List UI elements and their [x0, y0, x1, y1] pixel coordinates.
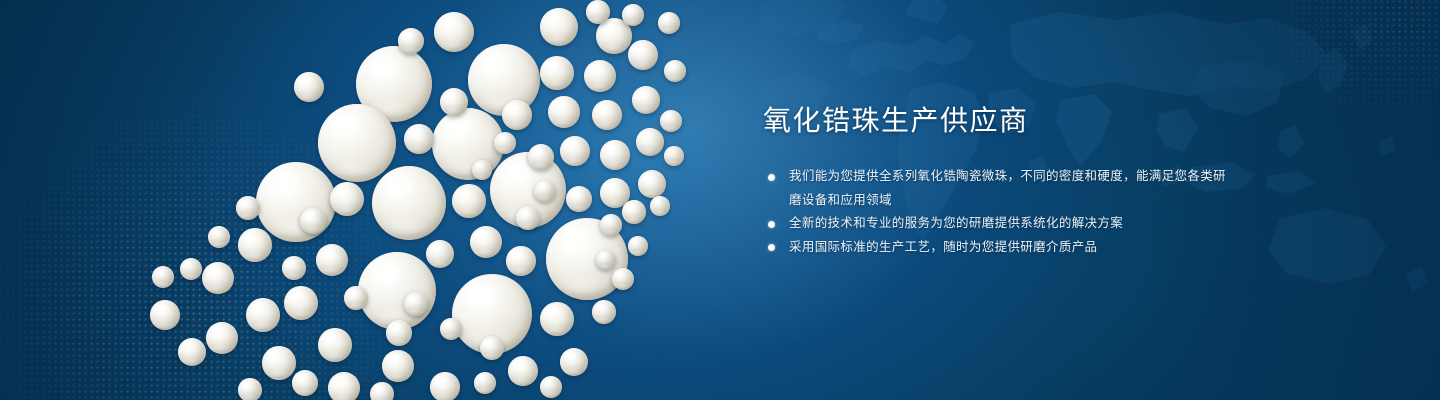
bullet-text: 全新的技术和专业的服务为您的研磨提供系统化的解决方案 — [789, 216, 1123, 230]
bullet-dot-icon — [768, 221, 775, 228]
bullet-dot-icon — [768, 174, 775, 181]
banner-headline: 氧化锆珠生产供应商 — [763, 104, 1233, 138]
banner-copy: 氧化锆珠生产供应商 我们能为您提供全系列氧化锆陶瓷微珠，不同的密度和硬度，能满足… — [763, 104, 1233, 259]
bullet-item-3: 采用国际标准的生产工艺，随时为您提供研磨介质产品 — [763, 236, 1233, 260]
bullet-text: 采用国际标准的生产工艺，随时为您提供研磨介质产品 — [789, 240, 1097, 254]
hero-banner: 氧化锆珠生产供应商 我们能为您提供全系列氧化锆陶瓷微珠，不同的密度和硬度，能满足… — [0, 0, 1440, 400]
banner-bullet-list: 我们能为您提供全系列氧化锆陶瓷微珠，不同的密度和硬度，能满足您各类研磨设备和应用… — [763, 165, 1233, 259]
bullet-dot-icon — [768, 244, 775, 251]
bullet-item-1: 我们能为您提供全系列氧化锆陶瓷微珠，不同的密度和硬度，能满足您各类研磨设备和应用… — [763, 165, 1233, 212]
bullet-text: 我们能为您提供全系列氧化锆陶瓷微珠，不同的密度和硬度，能满足您各类研磨设备和应用… — [789, 169, 1226, 207]
bullet-item-2: 全新的技术和专业的服务为您的研磨提供系统化的解决方案 — [763, 212, 1233, 236]
